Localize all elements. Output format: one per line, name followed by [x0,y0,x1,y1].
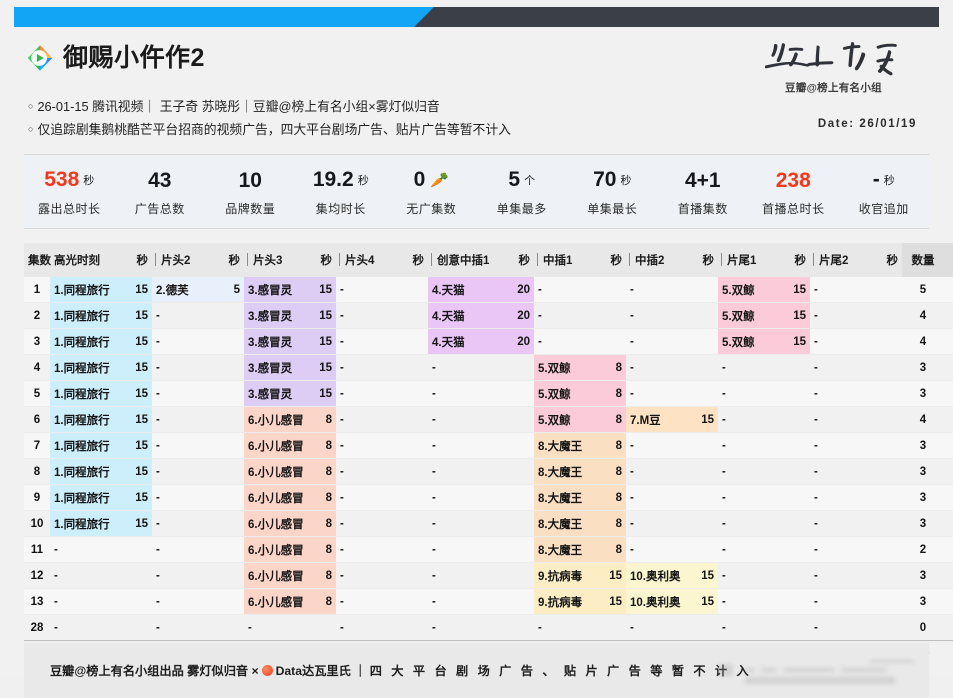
cell-brand: 1.同程旅行 [50,381,126,407]
cell-episode: 2 [24,303,50,329]
cell-brand: - [336,277,402,303]
stat-card-9: -秒收官追加 [839,167,930,217]
table-row[interactable]: 101.同程旅行15-6.小儿感冒8--8.大魔王8---331 [24,511,953,537]
col-header-片头4[interactable]: 片头4 [336,243,402,277]
cell-brand: - [810,433,876,459]
cell-seconds [508,407,534,433]
cell-brand: - [244,615,310,641]
cell-brand: - [336,615,402,641]
cell-count: 4 [902,303,944,329]
stat-card-3: 19.2秒集均时长 [296,167,387,217]
cell-seconds [402,563,428,589]
cell-brand: - [428,615,508,641]
cell-brand: - [718,381,784,407]
cell-brand: - [810,355,876,381]
cell-count: 3 [902,459,944,485]
cell-episode: 1 [24,277,50,303]
cell-seconds [218,329,244,355]
cell-seconds [218,589,244,615]
cell-seconds: 15 [126,511,152,537]
cell-brand: 4.天猫 [428,277,508,303]
table-row[interactable]: 21.同程旅行15-3.感冒灵15-4.天猫20--5.双鲸15-465 [24,303,953,329]
stat-unit: 秒 [83,175,94,187]
stat-label: 单集最多 [477,200,568,217]
cell-seconds [402,485,428,511]
data-source-dot-icon [262,665,273,676]
cell-seconds [218,355,244,381]
cell-seconds [876,355,902,381]
cell-seconds: 15 [600,563,626,589]
cell-seconds [692,277,718,303]
grand-total-secs: 538 [944,644,953,658]
col-header-秒[interactable]: 秒 [218,243,244,277]
cell-count: 3 [902,355,944,381]
table-row[interactable]: 71.同程旅行15-6.小儿感冒8--8.大魔王8---331 [24,433,953,459]
cell-seconds [784,589,810,615]
cell-seconds: 15 [310,355,336,381]
cell-brand: 3.感冒灵 [244,355,310,381]
stat-card-2: 10品牌数量 [205,168,296,217]
col-header-秒[interactable]: 秒 [310,243,336,277]
cell-episode: 7 [24,433,50,459]
cell-count: 3 [902,485,944,511]
cell-brand: 6.小儿感冒 [244,407,310,433]
cell-count: 3 [902,381,944,407]
cell-total-seconds: 65 [944,303,953,329]
stat-unit: 秒 [358,175,369,187]
cell-brand: 8.大魔王 [534,459,600,485]
col-header-中插1[interactable]: 中插1 [534,243,600,277]
cell-episode: 13 [24,589,50,615]
cell-brand: 6.小儿感冒 [244,589,310,615]
cell-brand: 3.感冒灵 [244,277,310,303]
footer-credits: 豆瓣@榜上有名小组出品 雾灯似归音 ×Data达瓦里氏 ｜ 四 大 平 台 剧 … [50,661,752,679]
cell-brand: 7.M豆 [626,407,692,433]
stat-card-1: 43广告总数 [115,168,206,217]
cell-brand: - [336,407,402,433]
cell-episode: 6 [24,407,50,433]
cell-brand: - [626,459,692,485]
cell-seconds [218,459,244,485]
cell-brand: 6.小儿感冒 [244,459,310,485]
brand-subtitle: 豆瓣@榜上有名小组 [746,80,921,95]
cell-episode: 5 [24,381,50,407]
cell-brand: 1.同程旅行 [50,355,126,381]
cell-seconds [692,381,718,407]
cell-brand: 10.奥利奥 [626,563,692,589]
cell-brand: 5.双鲸 [718,303,784,329]
cell-total-seconds: 16 [944,537,953,563]
cell-brand: - [810,485,876,511]
col-header-秒[interactable]: 秒 [692,243,718,277]
cell-total-seconds: 31 [944,511,953,537]
meta-line-2-text: 仅追踪剧集鹅桃酷芒平台招商的视频广告，四大平台剧场广告、贴片广告等暂不计入 [37,122,510,137]
cell-seconds: 15 [310,277,336,303]
cell-seconds [402,329,428,355]
stat-value: 43 [115,168,206,194]
cell-brand: - [718,433,784,459]
col-header-中插2[interactable]: 中插2 [626,243,692,277]
cell-episode: 12 [24,563,50,589]
cell-brand: - [336,511,402,537]
cell-brand: - [626,355,692,381]
cell-brand: 3.感冒灵 [244,381,310,407]
stat-label: 首播集数 [658,200,749,217]
cell-seconds [508,355,534,381]
cell-seconds [692,511,718,537]
cell-brand: - [810,615,876,641]
cell-seconds: 8 [310,485,336,511]
footer-credit-a: 豆瓣@榜上有名小组出品 雾灯似归音 × [50,664,259,678]
cell-brand: - [428,459,508,485]
footer-disclaimer: 四 大 平 台 剧 场 广 告 、 贴 片 广 告 等 暂 不 计 入 [370,664,752,678]
cell-seconds [218,511,244,537]
cell-brand: - [718,563,784,589]
cell-seconds [402,407,428,433]
cell-brand: - [534,329,600,355]
cell-seconds [784,511,810,537]
cell-seconds: 20 [508,303,534,329]
cell-brand: 3.感冒灵 [244,303,310,329]
cell-brand: - [428,355,508,381]
cell-count: 4 [902,329,944,355]
stat-label: 单集最长 [567,200,658,217]
stat-card-0: 538秒露出总时长 [24,167,115,217]
stat-value: 0🥕 [386,167,477,194]
cell-brand: 8.大魔王 [534,485,600,511]
divider-above-stats [24,154,929,155]
cell-brand: - [534,615,600,641]
cell-brand: - [152,459,218,485]
table-row[interactable]: 11--6.小儿感冒8--8.大魔王8---216 [24,537,953,563]
cell-brand: 10.奥利奥 [626,589,692,615]
cell-seconds [402,433,428,459]
cell-seconds: 15 [310,329,336,355]
cell-seconds [508,537,534,563]
table-row[interactable]: 51.同程旅行15-3.感冒灵15--5.双鲸8---338 [24,381,953,407]
cell-seconds: 5 [218,277,244,303]
cell-brand: 1.同程旅行 [50,511,126,537]
col-header-高光时刻[interactable]: 高光时刻 [50,243,126,277]
cell-seconds [218,563,244,589]
cell-seconds: 8 [310,537,336,563]
cell-seconds: 8 [310,459,336,485]
cell-seconds: 15 [126,303,152,329]
cell-seconds: 15 [310,303,336,329]
cell-seconds [876,563,902,589]
footer-credit-b: Data达瓦里氏 ｜ [276,664,370,678]
cell-brand: - [810,537,876,563]
col-header-秒[interactable]: 秒 [876,243,902,277]
table-row[interactable]: 11.同程旅行152.德芙53.感冒灵15-4.天猫20--5.双鲸15-570 [24,277,953,303]
cell-brand: - [336,589,402,615]
cell-brand: - [626,381,692,407]
meta-line-2: ○仅追踪剧集鹅桃酷芒平台招商的视频广告，四大平台剧场广告、贴片广告等暂不计入 [28,118,748,141]
cell-brand: - [810,459,876,485]
cell-seconds: 8 [310,511,336,537]
col-header-秒[interactable]: 秒 [402,243,428,277]
stat-value: 4+1 [658,168,749,194]
cell-brand: 1.同程旅行 [50,433,126,459]
meta-line-1-text: 26-01-15 腾讯视频｜ 王子奇 苏晓彤｜豆瓣@榜上有名小组×雾灯似归音 [37,99,439,114]
cell-brand: - [810,303,876,329]
group-brand-logo: 豆瓣@榜上有名小组 [746,39,921,95]
stat-value: -秒 [839,167,930,194]
cell-brand: - [428,381,508,407]
col-header-数量[interactable]: 数量 [902,243,944,277]
cell-brand: - [626,277,692,303]
cell-brand: - [152,589,218,615]
cell-brand: - [534,277,600,303]
cell-seconds [402,511,428,537]
cell-brand: - [336,433,402,459]
cell-seconds [218,303,244,329]
cell-seconds [876,485,902,511]
cell-brand: - [718,459,784,485]
stat-label: 广告总数 [115,200,206,217]
col-header-片头3[interactable]: 片头3 [244,243,310,277]
cell-count: 3 [902,563,944,589]
cell-seconds [218,615,244,641]
stat-label: 集均时长 [296,200,387,217]
cell-brand: - [626,433,692,459]
stat-card-8: 238首播总时长 [748,168,839,217]
cell-brand: - [50,589,126,615]
cell-brand: 9.抗病毒 [534,563,600,589]
cell-total-seconds: 38 [944,563,953,589]
table-row[interactable]: 13--6.小儿感冒8--9.抗病毒1510.奥利奥15--338 [24,589,953,615]
cell-seconds: 20 [508,277,534,303]
cell-brand: - [718,589,784,615]
cell-seconds: 8 [600,459,626,485]
cell-seconds: 15 [126,277,152,303]
cell-brand: - [718,407,784,433]
cell-brand: 1.同程旅行 [50,329,126,355]
stat-card-4: 0🥕无广集数 [386,167,477,217]
cell-seconds [402,459,428,485]
stat-label: 无广集数 [386,200,477,217]
bullet-icon: ○ [28,101,33,111]
cell-seconds [508,459,534,485]
cell-seconds: 8 [600,355,626,381]
cell-seconds [784,381,810,407]
cell-brand: - [50,563,126,589]
cell-brand: - [152,329,218,355]
cell-brand: - [810,563,876,589]
stat-label: 首播总时长 [748,200,839,217]
cell-seconds [692,329,718,355]
cell-seconds [876,329,902,355]
col-header-秒[interactable]: 秒 [126,243,152,277]
cell-seconds [876,615,902,641]
cell-brand: - [718,511,784,537]
stat-value: 538秒 [24,167,115,194]
table-row[interactable]: 41.同程旅行15-3.感冒灵15--5.双鲸8---338 [24,355,953,381]
cell-seconds [218,407,244,433]
cell-brand: - [152,615,218,641]
cell-seconds [784,433,810,459]
col-header-集数[interactable]: 集数 [24,243,50,277]
cell-seconds [126,589,152,615]
cell-brand: - [152,381,218,407]
cell-brand: 6.小儿感冒 [244,485,310,511]
cell-brand: 5.双鲸 [718,329,784,355]
cell-seconds [402,355,428,381]
cell-seconds: 8 [600,407,626,433]
cell-brand: - [626,511,692,537]
cell-brand: - [428,511,508,537]
cell-total-seconds: 0 [944,615,953,641]
col-header-片头2[interactable]: 片头2 [152,243,218,277]
cell-seconds: 8 [600,381,626,407]
cell-seconds: 8 [600,485,626,511]
col-header-秒[interactable]: 秒 [600,243,626,277]
cell-seconds [600,303,626,329]
cell-seconds [218,485,244,511]
cell-brand: - [718,537,784,563]
cell-seconds [876,511,902,537]
cell-seconds [508,615,534,641]
cell-seconds [784,485,810,511]
cell-seconds [600,277,626,303]
cell-seconds: 15 [692,407,718,433]
cell-brand: - [336,303,402,329]
cell-seconds: 8 [310,433,336,459]
cell-brand: 6.小儿感冒 [244,511,310,537]
table-row[interactable]: 28---------00 [24,615,953,641]
cell-seconds [784,615,810,641]
col-header-秒[interactable]: 秒 [784,243,810,277]
stat-value: 238 [748,168,839,194]
cell-brand: - [810,329,876,355]
cell-seconds [876,407,902,433]
cell-total-seconds: 31 [944,459,953,485]
cell-brand: - [428,433,508,459]
cell-brand: 5.双鲸 [534,381,600,407]
col-header-创意中插1[interactable]: 创意中插1 [428,243,508,277]
col-header-片尾2[interactable]: 片尾2 [810,243,876,277]
cell-seconds [784,459,810,485]
cell-brand: - [336,329,402,355]
title-row: 御赐小仵作2 [26,44,205,72]
cell-brand: - [718,485,784,511]
cell-brand: - [428,589,508,615]
cell-seconds [876,459,902,485]
cell-seconds [692,485,718,511]
table-row[interactable]: 31.同程旅行15-3.感冒灵15-4.天猫20--5.双鲸15-465 [24,329,953,355]
cell-brand: 1.同程旅行 [50,303,126,329]
cell-brand: - [810,589,876,615]
stat-value: 10 [205,168,296,194]
cell-brand: - [810,511,876,537]
cell-brand: - [152,433,218,459]
tencent-video-play-icon [26,44,54,72]
bullet-icon: ○ [28,124,33,134]
cell-seconds: 15 [784,303,810,329]
cell-episode: 9 [24,485,50,511]
cell-seconds [692,459,718,485]
cell-brand: 1.同程旅行 [50,485,126,511]
cell-seconds [126,563,152,589]
blurred-watermark [719,658,919,692]
cell-brand: - [336,355,402,381]
cell-brand: 2.德芙 [152,277,218,303]
top-accent-bar [0,0,953,27]
table-row[interactable]: 81.同程旅行15-6.小儿感冒8--8.大魔王8---331 [24,459,953,485]
table-row[interactable]: 91.同程旅行15-6.小儿感冒8--8.大魔王8---331 [24,485,953,511]
cell-count: 0 [902,615,944,641]
cell-seconds [692,537,718,563]
cell-seconds [218,381,244,407]
cell-seconds: 8 [310,563,336,589]
cell-seconds [600,329,626,355]
cell-brand: - [336,485,402,511]
col-header-秒[interactable]: 秒 [508,243,534,277]
cell-episode: 3 [24,329,50,355]
cell-seconds [126,537,152,563]
cell-episode: 11 [24,537,50,563]
cell-seconds [600,615,626,641]
stat-label: 收官追加 [839,200,930,217]
cell-total-seconds: 70 [944,277,953,303]
cell-total-seconds: 31 [944,485,953,511]
bangshangyouming-calligraphy-icon [759,39,909,79]
cell-brand: 8.大魔王 [534,511,600,537]
cell-count: 3 [902,511,944,537]
cell-seconds [692,433,718,459]
col-header-片尾1[interactable]: 片尾1 [718,243,784,277]
cell-seconds: 15 [126,459,152,485]
cell-total-seconds: 65 [944,329,953,355]
cell-seconds: 15 [784,329,810,355]
stat-unit: 秒 [884,175,895,187]
cell-brand: 1.同程旅行 [50,277,126,303]
cell-brand: 5.双鲸 [534,355,600,381]
cell-brand: 6.小儿感冒 [244,537,310,563]
cell-seconds [876,277,902,303]
meta-line-1: ○26-01-15 腾讯视频｜ 王子奇 苏晓彤｜豆瓣@榜上有名小组×雾灯似归音 [28,95,748,118]
cell-seconds: 15 [126,485,152,511]
cell-episode: 8 [24,459,50,485]
cell-brand: - [152,407,218,433]
cell-seconds [876,303,902,329]
col-header-秒数[interactable]: 秒数 [944,243,953,277]
cell-brand: - [428,563,508,589]
cell-brand: - [626,303,692,329]
cell-seconds: 15 [784,277,810,303]
stat-value: 5个 [477,167,568,194]
cell-seconds [218,537,244,563]
cell-seconds [692,355,718,381]
cell-brand: - [810,407,876,433]
stat-card-5: 5个单集最多 [477,167,568,217]
cell-brand: - [810,381,876,407]
summary-stats-strip: 538秒露出总时长43广告总数10品牌数量19.2秒集均时长0🥕无广集数5个单集… [24,156,929,228]
cell-episode: 28 [24,615,50,641]
cell-seconds: 15 [692,563,718,589]
cell-brand: 8.大魔王 [534,433,600,459]
table-header-row: 集数高光时刻秒片头2秒片头3秒片头4秒创意中插1秒中插1秒中插2秒片尾1秒片尾2… [24,243,953,277]
stat-card-6: 70秒单集最长 [567,167,658,217]
cell-total-seconds: 38 [944,381,953,407]
table-row[interactable]: 12--6.小儿感冒8--9.抗病毒1510.奥利奥15--338 [24,563,953,589]
cell-brand: - [626,329,692,355]
cell-brand: - [50,615,126,641]
cell-brand: - [626,537,692,563]
cell-brand: - [152,511,218,537]
table-row[interactable]: 61.同程旅行15-6.小儿感冒8--5.双鲸87.M豆15--446 [24,407,953,433]
cell-seconds: 15 [126,355,152,381]
